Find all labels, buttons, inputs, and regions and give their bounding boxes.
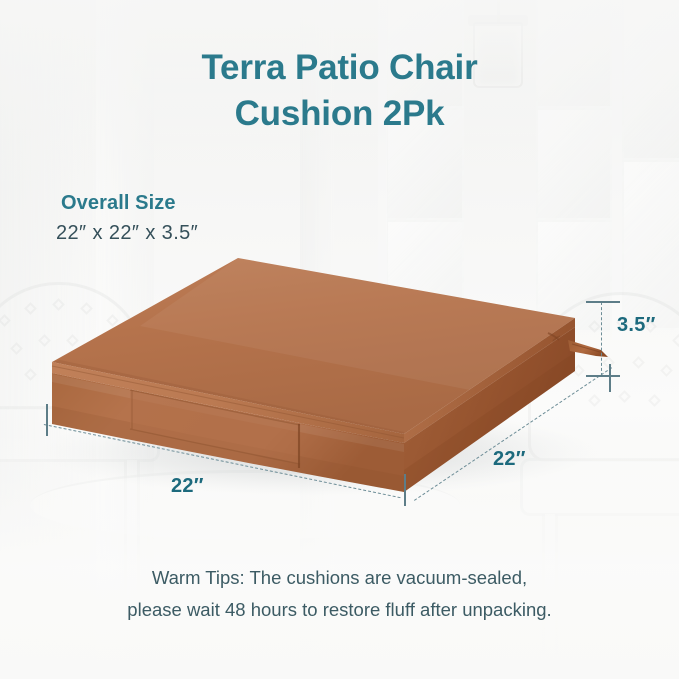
depth-dimension-tick-right (609, 364, 611, 392)
warm-tips-block: Warm Tips: The cushions are vacuum-seale… (0, 562, 679, 626)
page-title: Terra Patio Chair Cushion 2Pk (0, 45, 679, 137)
warm-tips-line-1: Warm Tips: The cushions are vacuum-seale… (0, 562, 679, 594)
title-line-2: Cushion 2Pk (0, 91, 679, 137)
title-line-1: Terra Patio Chair (0, 45, 679, 91)
warm-tips-line-2: please wait 48 hours to restore fluff af… (0, 594, 679, 626)
depth-dimension-label: 22″ (493, 448, 526, 471)
width-dimension-tick-right (404, 474, 406, 506)
height-dimension-line (601, 302, 602, 376)
width-dimension-tick-left (46, 404, 48, 436)
overall-size-block: Overall Size 22″ x 22″ x 3.5″ (56, 192, 198, 245)
overall-size-heading: Overall Size (61, 192, 198, 215)
height-dimension-label: 3.5″ (617, 314, 656, 337)
overall-size-value: 22″ x 22″ x 3.5″ (56, 222, 198, 245)
height-dimension-tick-bottom (586, 375, 620, 377)
width-dimension-label: 22″ (171, 475, 204, 498)
height-dimension-tick-top (586, 301, 620, 303)
